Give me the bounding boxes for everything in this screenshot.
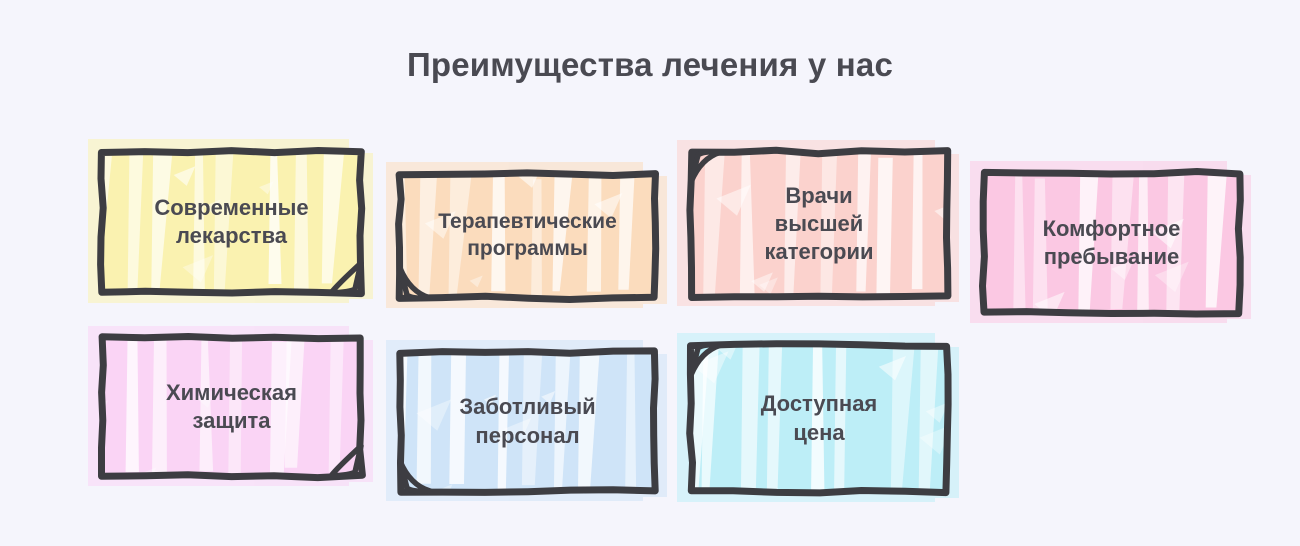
card-label-terapevticheskie-programmy: Терапевтические программы (396, 170, 659, 302)
benefit-card-himicheskaya-zashchita[interactable]: Химическая защита (98, 334, 365, 480)
benefit-card-sovremennye-lekarstva[interactable]: Современные лекарства (98, 147, 365, 297)
card-label-zabotlivyy-personal: Заботливый персонал (396, 348, 659, 495)
benefit-card-zabotlivyy-personal[interactable]: Заботливый персонал (396, 348, 659, 495)
infographic-canvas: Преимущества лечения у нас Современные л… (0, 0, 1300, 546)
benefit-card-vrachi-vysshey-kategorii[interactable]: Врачи высшей категории (687, 148, 951, 300)
card-label-himicheskaya-zashchita: Химическая защита (98, 334, 365, 480)
page-title: Преимущества лечения у нас (0, 46, 1300, 84)
card-label-dostupnaya-cena: Доступная цена (687, 341, 951, 496)
benefit-card-terapevticheskie-programmy[interactable]: Терапевтические программы (396, 170, 659, 302)
benefit-card-dostupnaya-cena[interactable]: Доступная цена (687, 341, 951, 496)
benefit-card-komfortnoe-prebyvanie[interactable]: Комфортное пребывание (980, 169, 1243, 317)
card-label-sovremennye-lekarstva: Современные лекарства (98, 147, 365, 297)
card-label-komfortnoe-prebyvanie: Комфортное пребывание (980, 169, 1243, 317)
card-label-vrachi-vysshey-kategorii: Врачи высшей категории (687, 148, 951, 300)
